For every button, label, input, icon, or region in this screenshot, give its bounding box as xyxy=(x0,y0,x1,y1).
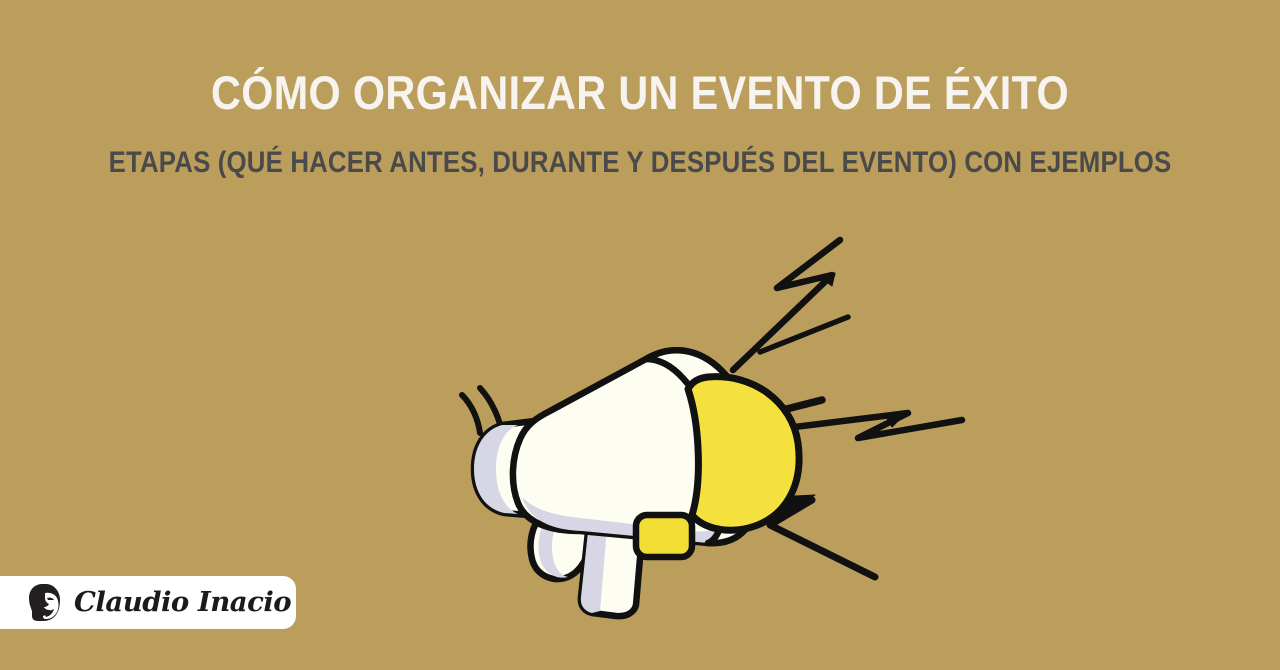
trigger-button xyxy=(636,515,692,557)
brand-wordmark: Claudio Inacio xyxy=(74,589,291,616)
page-subtitle: ETAPAS (QUÉ HACER ANTES, DURANTE Y DESPU… xyxy=(90,144,1191,182)
bearded-face-icon xyxy=(28,583,66,623)
page-title: CÓMO ORGANIZAR UN EVENTO DE ÉXITO xyxy=(77,62,1203,124)
megaphone-body xyxy=(474,350,799,616)
banner-canvas: CÓMO ORGANIZAR UN EVENTO DE ÉXITO ETAPAS… xyxy=(0,0,1280,670)
megaphone-illustration xyxy=(440,225,970,625)
brand-logo-badge[interactable]: Claudio Inacio xyxy=(0,576,296,629)
